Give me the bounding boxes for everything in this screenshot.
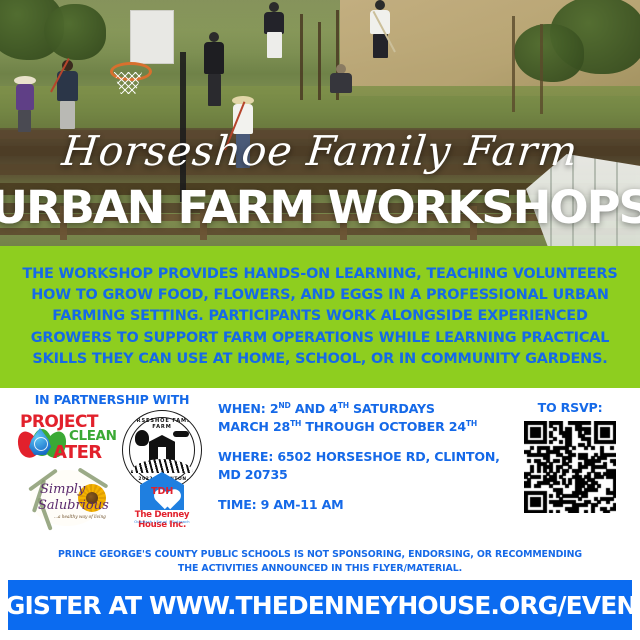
seal-cloud-icon bbox=[173, 431, 189, 437]
tree-left-2 bbox=[44, 4, 106, 60]
when-post: SATURDAYS bbox=[349, 401, 435, 416]
where-block: WHERE: 6502 HORSESHOE RD, CLINTON, MD 20… bbox=[218, 448, 518, 484]
description-text: THE WORKSHOP PROVIDES HANDS-ON LEARNING,… bbox=[20, 264, 620, 371]
partners-block: IN PARTNERSHIP WITH PROJECT CLEAN ATER bbox=[14, 392, 210, 532]
rsvp-label: TO RSVP: bbox=[512, 400, 628, 415]
ss-word-simply: Simply bbox=[40, 482, 85, 497]
tdh-monogram: TDH bbox=[151, 486, 173, 497]
volunteer-legs bbox=[18, 110, 31, 132]
tree-right-2 bbox=[514, 24, 584, 82]
event-details: WHEN: 2ND AND 4TH SATURDAYS MARCH 28TH T… bbox=[218, 400, 518, 525]
seal-tree-icon bbox=[135, 430, 149, 446]
volunteer-legs bbox=[208, 74, 221, 106]
tdh-tagline: Outreach | Equal | Outreach bbox=[122, 520, 202, 524]
disclaimer: PRINCE GEORGE'S COUNTY PUBLIC SCHOOLS IS… bbox=[0, 548, 640, 576]
volunteer-legs bbox=[60, 101, 75, 129]
when-mid: AND 4 bbox=[291, 401, 338, 416]
disclaimer-line-1: PRINCE GEORGE'S COUNTY PUBLIC SCHOOLS IS… bbox=[0, 548, 640, 562]
description-band: THE WORKSHOP PROVIDES HANDS-ON LEARNING,… bbox=[0, 246, 640, 388]
time-label: TIME: bbox=[218, 497, 256, 512]
qr-code-canvas[interactable] bbox=[524, 421, 616, 513]
garden-stake bbox=[540, 24, 543, 114]
when-label: WHEN: bbox=[218, 401, 266, 416]
seal-top-text: HORSESHOE FAMILY FARM bbox=[123, 418, 201, 430]
volunteer-legs bbox=[267, 32, 282, 58]
qr-code[interactable] bbox=[524, 421, 616, 513]
volunteer-head bbox=[375, 0, 385, 10]
register-text: REGISTER AT WWW.THEDENNEYHOUSE.ORG/EVENT… bbox=[0, 591, 640, 620]
disclaimer-line-2: THE ACTIVITIES ANNOUNCED IN THIS FLYER/M… bbox=[0, 562, 640, 576]
garden-stake bbox=[300, 14, 303, 100]
partner-logos: PROJECT CLEAN ATER HORSESHOE FAMILY bbox=[14, 410, 210, 532]
when-line-2: MARCH 28TH THROUGH OCTOBER 24TH bbox=[218, 418, 518, 436]
ss-word-salubrious: Salubrious bbox=[38, 498, 109, 513]
pcw-water-text: ATER bbox=[53, 442, 102, 463]
when-sup-2: TH bbox=[338, 401, 349, 410]
volunteer-body bbox=[264, 12, 284, 34]
when-block: WHEN: 2ND AND 4TH SATURDAYS MARCH 28TH T… bbox=[218, 400, 518, 436]
when-line-1: WHEN: 2ND AND 4TH SATURDAYS bbox=[218, 400, 518, 418]
denney-house-logo: TDH The Denney House Inc. Outreach | Equ… bbox=[122, 472, 202, 530]
project-clean-water-logo: PROJECT CLEAN ATER bbox=[16, 412, 116, 468]
where-label: WHERE: bbox=[218, 449, 273, 464]
when-sup-1: ND bbox=[278, 401, 290, 410]
volunteer-body bbox=[330, 73, 352, 93]
garden-stake bbox=[512, 16, 515, 112]
ss-tagline: ...a healthy way of living bbox=[54, 514, 106, 519]
volunteer-body bbox=[16, 84, 34, 110]
garden-stake bbox=[318, 22, 321, 100]
volunteer-head bbox=[209, 32, 219, 42]
time-value: 9 AM-11 AM bbox=[261, 497, 344, 512]
basketball-backboard bbox=[130, 10, 174, 64]
register-banner[interactable]: REGISTER AT WWW.THEDENNEYHOUSE.ORG/EVENT… bbox=[8, 580, 632, 630]
date-mid: THROUGH OCTOBER 24 bbox=[301, 419, 466, 434]
time-block: TIME: 9 AM-11 AM bbox=[218, 496, 518, 514]
simply-salubrious-logo: Simply Salubrious ...a healthy way of li… bbox=[20, 468, 116, 530]
date-start-sup: TH bbox=[290, 419, 301, 428]
info-section: IN PARTNERSHIP WITH PROJECT CLEAN ATER bbox=[0, 388, 640, 540]
volunteer-body bbox=[204, 42, 224, 74]
partners-heading: IN PARTNERSHIP WITH bbox=[14, 392, 210, 407]
workshop-title: URBAN FARM WORKSHOPS bbox=[0, 185, 640, 230]
flyer: Horseshoe Family Farm URBAN FARM WORKSHO… bbox=[0, 0, 640, 640]
rsvp-block: TO RSVP: bbox=[512, 400, 628, 513]
date-start: MARCH 28 bbox=[218, 419, 290, 434]
hero-photo-section: Horseshoe Family Farm URBAN FARM WORKSHO… bbox=[0, 0, 640, 246]
farm-name-title: Horseshoe Family Farm bbox=[0, 131, 640, 172]
volunteer-head bbox=[269, 2, 279, 12]
date-end-sup: TH bbox=[466, 419, 477, 428]
